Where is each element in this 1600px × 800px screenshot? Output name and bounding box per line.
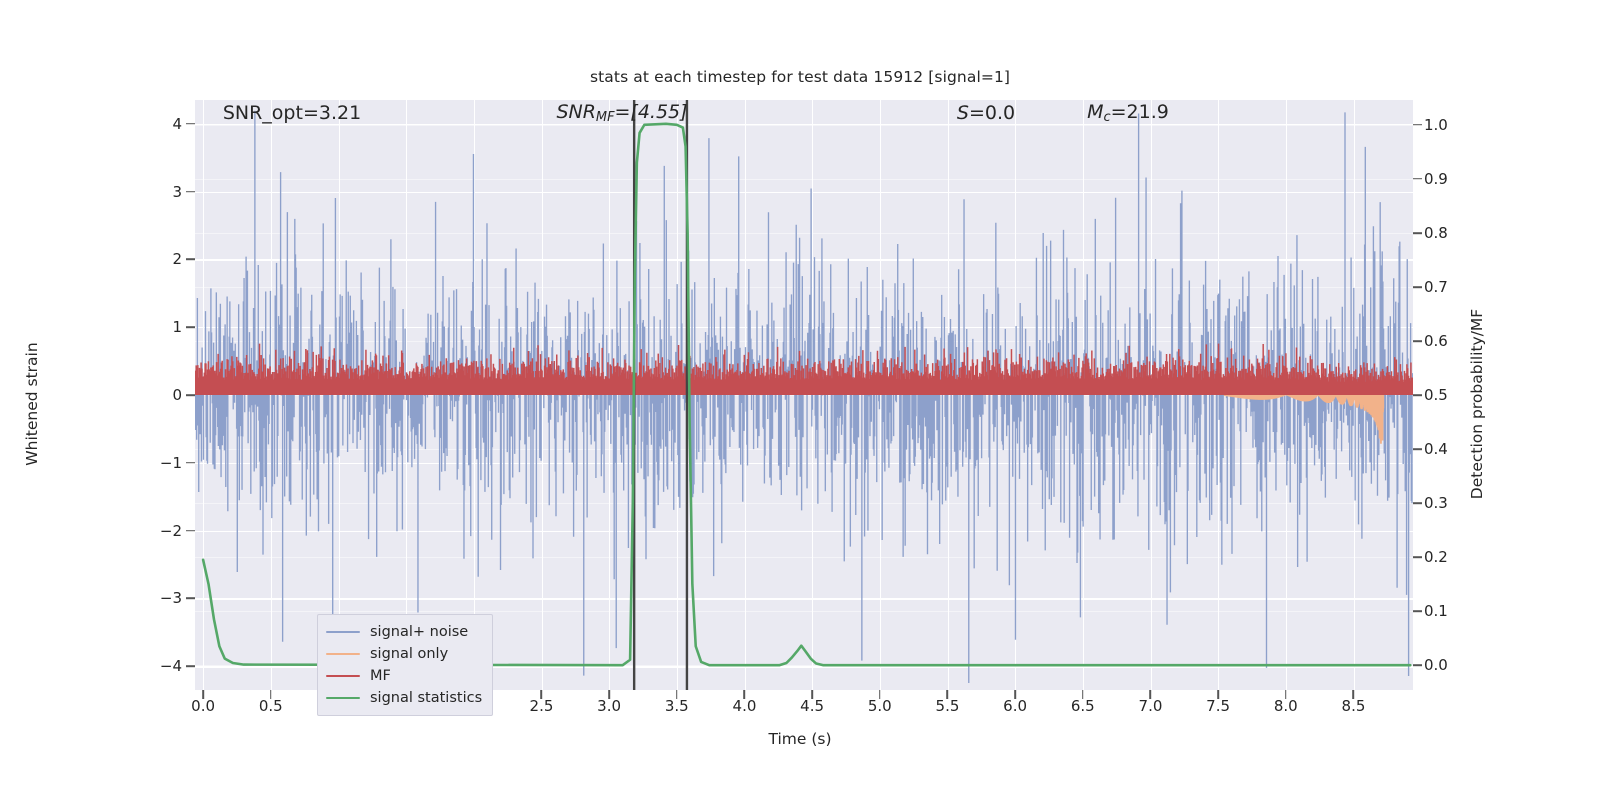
y-tick-mark-left <box>186 394 195 396</box>
y-tick-mark-left <box>186 598 195 600</box>
y-tick-label-right: 0.1 <box>1424 602 1448 620</box>
y-tick-label-right: 1.0 <box>1424 116 1448 134</box>
y-tick-mark-left <box>186 259 195 261</box>
y-axis-left-label: Whitened strain <box>23 254 41 554</box>
x-tick-label: 5.0 <box>868 697 892 715</box>
y-tick-label-right: 0.0 <box>1424 656 1448 674</box>
y-tick-label-right: 0.2 <box>1424 548 1448 566</box>
y-tick-label-right: 0.3 <box>1424 494 1448 512</box>
series-canvas <box>195 100 1413 690</box>
y-tick-mark-right <box>1413 232 1422 234</box>
x-tick-label: 4.0 <box>733 697 757 715</box>
annotation-s-statistic: S=0.0 <box>957 102 1015 124</box>
x-tick-label: 0.5 <box>259 697 283 715</box>
legend-swatch <box>326 631 360 634</box>
annotation-snr-mf-eq: =[4.55] <box>614 101 687 123</box>
legend[interactable]: signal+ noisesignal onlyMFsignal statist… <box>317 614 493 716</box>
y-tick-mark-right <box>1413 286 1422 288</box>
y-tick-label-right: 0.8 <box>1424 224 1448 242</box>
annotation-snr-opt: SNR_opt=3.21 <box>223 102 361 124</box>
page-title: stats at each timestep for test data 159… <box>0 68 1600 86</box>
y-tick-label-left: 3 <box>0 183 182 201</box>
y-tick-mark-right <box>1413 610 1422 612</box>
annotation-snr-mf-var: SNR <box>556 101 595 123</box>
y-tick-label-right: 0.4 <box>1424 440 1448 458</box>
figure-canvas: stats at each timestep for test data 159… <box>0 0 1600 800</box>
annotation-mc-eq: =21.9 <box>1111 101 1169 123</box>
legend-item[interactable]: MF <box>318 665 492 687</box>
y-tick-mark-right <box>1413 394 1422 396</box>
legend-item[interactable]: signal only <box>318 643 492 665</box>
plot-area <box>195 100 1413 690</box>
y-tick-mark-left <box>186 326 195 328</box>
y-tick-mark-right <box>1413 502 1422 504</box>
annotation-s-var: S <box>957 102 969 124</box>
legend-item[interactable]: signal statistics <box>318 687 492 709</box>
y-tick-label-right: 0.5 <box>1424 386 1448 404</box>
annotation-mc-sub: c <box>1104 110 1111 125</box>
y-tick-mark-left <box>186 665 195 667</box>
series-signal-noise <box>195 111 1412 683</box>
x-tick-label: 0.0 <box>191 697 215 715</box>
legend-item[interactable]: signal+ noise <box>318 621 492 643</box>
y-tick-mark-right <box>1413 124 1422 126</box>
annotation-snr-mf-sub: MF <box>596 110 615 125</box>
y-tick-label-right: 0.6 <box>1424 332 1448 350</box>
legend-swatch <box>326 653 360 656</box>
y-tick-mark-left <box>186 191 195 193</box>
x-tick-label: 2.5 <box>530 697 554 715</box>
x-tick-label: 3.5 <box>665 697 689 715</box>
legend-item-label: signal only <box>370 646 448 662</box>
legend-swatch <box>326 675 360 678</box>
x-tick-label: 8.0 <box>1274 697 1298 715</box>
x-tick-label: 6.0 <box>1003 697 1027 715</box>
y-tick-mark-left <box>186 530 195 532</box>
y-tick-mark-right <box>1413 556 1422 558</box>
x-tick-label: 4.5 <box>800 697 824 715</box>
y-tick-label-left: 4 <box>0 115 182 133</box>
x-tick-label: 5.5 <box>936 697 960 715</box>
y-tick-label-right: 0.9 <box>1424 170 1448 188</box>
x-tick-label: 7.0 <box>1139 697 1163 715</box>
x-tick-label: 6.5 <box>1071 697 1095 715</box>
y-tick-mark-right <box>1413 340 1422 342</box>
annotation-s-eq: =0.0 <box>969 102 1015 124</box>
y-tick-label-left: −4 <box>0 657 182 675</box>
y-tick-mark-left <box>186 462 195 464</box>
y-tick-mark-left <box>186 123 195 125</box>
legend-item-label: signal statistics <box>370 690 482 706</box>
annotation-mc-var: M <box>1087 101 1103 123</box>
x-axis-label: Time (s) <box>0 730 1600 748</box>
y-axis-right-label: Detection probability/MF <box>1468 254 1486 554</box>
legend-swatch <box>326 697 360 700</box>
y-tick-label-right: 0.7 <box>1424 278 1448 296</box>
legend-item-label: MF <box>370 668 391 684</box>
annotation-chirp-mass: Mc=21.9 <box>1087 101 1169 125</box>
y-tick-label-left: −3 <box>0 589 182 607</box>
annotation-snr-opt-value: 3.21 <box>319 102 361 124</box>
legend-item-label: signal+ noise <box>370 624 468 640</box>
annotation-snr-mf: SNRMF=[4.55] <box>556 101 687 125</box>
y-tick-mark-right <box>1413 178 1422 180</box>
x-tick-label: 8.5 <box>1342 697 1366 715</box>
x-tick-label: 7.5 <box>1206 697 1230 715</box>
y-tick-mark-right <box>1413 664 1422 666</box>
annotation-snr-opt-label: SNR_opt= <box>223 102 319 124</box>
x-tick-label: 3.0 <box>597 697 621 715</box>
data-layer <box>195 100 1413 690</box>
y-tick-mark-right <box>1413 448 1422 450</box>
